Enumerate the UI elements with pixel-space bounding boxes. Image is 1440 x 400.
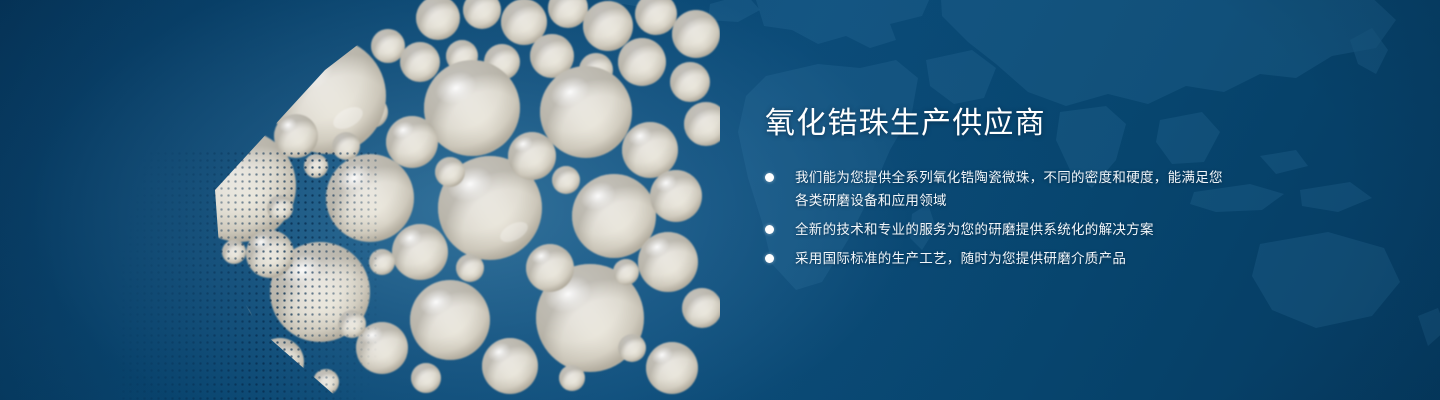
zirconia-ceramic-beads-photo: [120, 0, 720, 400]
page-title: 氧化锆珠生产供应商: [765, 104, 1235, 144]
bullet-dot-icon: [765, 173, 774, 182]
hero-banner: 氧化锆珠生产供应商 我们能为您提供全系列氧化锆陶瓷微珠，不同的密度和硬度，能满足…: [0, 0, 1440, 400]
list-item-label: 我们能为您提供全系列氧化锆陶瓷微珠，不同的密度和硬度，能满足您各类研磨设备和应用…: [795, 170, 1223, 208]
bullet-dot-icon: [765, 254, 774, 263]
list-item: 采用国际标准的生产工艺，随时为您提供研磨介质产品: [765, 247, 1235, 270]
banner-copy: 氧化锆珠生产供应商 我们能为您提供全系列氧化锆陶瓷微珠，不同的密度和硬度，能满足…: [765, 104, 1235, 270]
bullet-dot-icon: [765, 225, 774, 234]
list-item-label: 全新的技术和专业的服务为您的研磨提供系统化的解决方案: [795, 222, 1154, 237]
feature-list: 我们能为您提供全系列氧化锆陶瓷微珠，不同的密度和硬度，能满足您各类研磨设备和应用…: [765, 166, 1235, 270]
list-item-label: 采用国际标准的生产工艺，随时为您提供研磨介质产品: [795, 251, 1126, 266]
list-item: 我们能为您提供全系列氧化锆陶瓷微珠，不同的密度和硬度，能满足您各类研磨设备和应用…: [765, 166, 1235, 212]
list-item: 全新的技术和专业的服务为您的研磨提供系统化的解决方案: [765, 218, 1235, 241]
